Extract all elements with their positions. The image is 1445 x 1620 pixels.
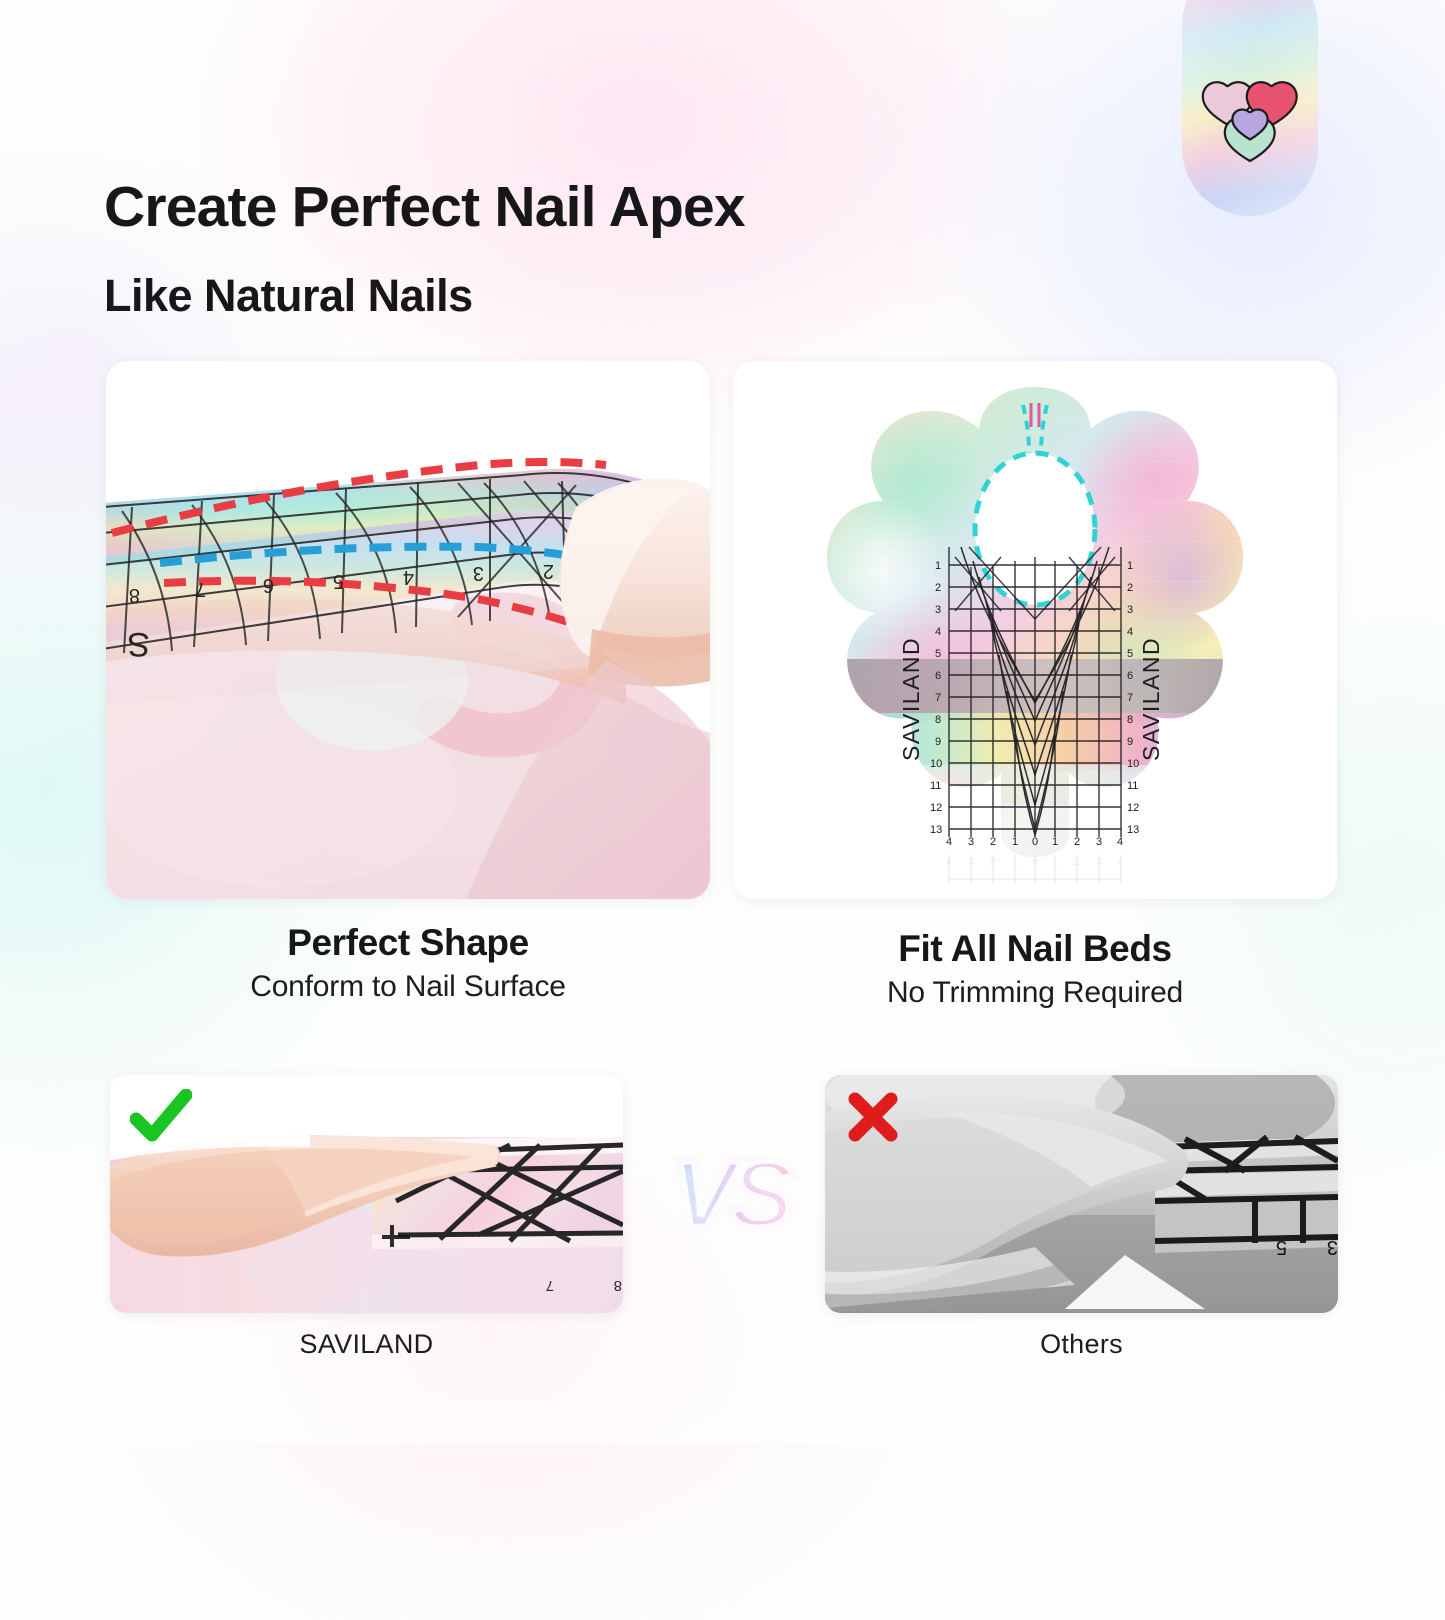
- svg-text:0: 0: [1032, 857, 1038, 868]
- svg-text:2: 2: [990, 836, 996, 848]
- scale-number: 5: [935, 648, 941, 660]
- svg-text:5: 5: [1276, 1236, 1287, 1258]
- scale-number: 7: [1127, 692, 1133, 704]
- check-mark-icon: [130, 1089, 192, 1147]
- brand-logo-badge: [1182, 0, 1318, 216]
- feature-card-fit-all-nail-beds: 1 2 3 4 5 6 7 8 9 10 11 12 13 1 2 3 4 5 …: [733, 361, 1337, 899]
- nail-form-side-view-photo: 8 7 6 5 4 3 2 1 S: [106, 361, 710, 899]
- scale-number: 4: [935, 626, 941, 638]
- scale-number: 11: [1127, 780, 1138, 792]
- comparison-card-saviland: 7 8: [110, 1075, 623, 1313]
- svg-text:1: 1: [1012, 836, 1018, 848]
- svg-text:7: 7: [546, 1277, 554, 1294]
- scale-number: 7: [935, 692, 941, 704]
- versus-badge: VS: [650, 1135, 810, 1255]
- scale-number: 8: [1127, 714, 1133, 726]
- comparison-label-saviland: SAVILAND: [110, 1329, 623, 1360]
- brand-text-left: SAVILAND: [898, 637, 924, 761]
- scale-number: 11: [930, 780, 941, 792]
- page-subtitle: Like Natural Nails: [104, 272, 473, 319]
- scale-number: 1: [935, 560, 941, 572]
- svg-text:4: 4: [1117, 857, 1123, 868]
- cross-mark-icon: [847, 1091, 899, 1143]
- scale-number: 13: [1127, 824, 1139, 836]
- svg-text:2: 2: [1074, 836, 1080, 848]
- others-fit-photo: 5 3: [825, 1075, 1338, 1313]
- feature-caption-perfect-shape: Perfect Shape Conform to Nail Surface: [106, 922, 710, 1004]
- brand-text-right: SAVILAND: [1138, 637, 1164, 761]
- feature-caption-fit-all-nail-beds: Fit All Nail Beds No Trimming Required: [733, 928, 1337, 1010]
- svg-text:3: 3: [968, 857, 974, 868]
- scale-number: 12: [930, 802, 942, 814]
- feature-title: Fit All Nail Beds: [733, 928, 1337, 970]
- scale-number: 2: [1127, 582, 1133, 594]
- saviland-flower-icon: [1197, 72, 1303, 164]
- svg-text:4: 4: [946, 857, 952, 868]
- scale-number: 10: [930, 758, 942, 770]
- svg-text:1: 1: [1012, 857, 1018, 868]
- svg-text:2: 2: [1074, 857, 1080, 868]
- scale-number: 4: [1127, 626, 1133, 638]
- feature-title: Perfect Shape: [106, 922, 710, 964]
- scale-number: 12: [1127, 802, 1139, 814]
- nail-form-top-view-photo: 1 2 3 4 5 6 7 8 9 10 11 12 13 1 2 3 4 5 …: [733, 361, 1337, 899]
- svg-text:0: 0: [1032, 836, 1038, 848]
- scale-number: 2: [935, 582, 941, 594]
- scale-number: 3: [1127, 604, 1133, 616]
- svg-text:4: 4: [946, 836, 952, 848]
- svg-text:3: 3: [968, 836, 974, 848]
- scale-number: 6: [935, 670, 941, 682]
- scale-number: 13: [930, 824, 942, 836]
- scale-number: 5: [1127, 648, 1133, 660]
- feature-subtitle: No Trimming Required: [733, 976, 1337, 1010]
- svg-text:1: 1: [1052, 836, 1058, 848]
- feature-card-perfect-shape: 8 7 6 5 4 3 2 1 S: [106, 361, 710, 899]
- svg-text:3: 3: [1096, 857, 1102, 868]
- svg-text:2: 2: [990, 857, 996, 868]
- page-title: Create Perfect Nail Apex: [104, 178, 745, 238]
- svg-text:3: 3: [1096, 836, 1102, 848]
- scale-number: 6: [1127, 670, 1133, 682]
- svg-text:4: 4: [1117, 836, 1123, 848]
- svg-text:3: 3: [1327, 1236, 1338, 1258]
- comparison-label-others: Others: [825, 1329, 1338, 1360]
- scale-number: 9: [935, 736, 941, 748]
- scale-number: 8: [935, 714, 941, 726]
- scale-number: 9: [1127, 736, 1133, 748]
- svg-text:8: 8: [614, 1277, 622, 1294]
- scale-number: 3: [935, 604, 941, 616]
- svg-text:1: 1: [1052, 857, 1058, 868]
- comparison-card-others: 5 3: [825, 1075, 1338, 1313]
- scale-number: 1: [1127, 560, 1133, 572]
- feature-subtitle: Conform to Nail Surface: [106, 970, 710, 1004]
